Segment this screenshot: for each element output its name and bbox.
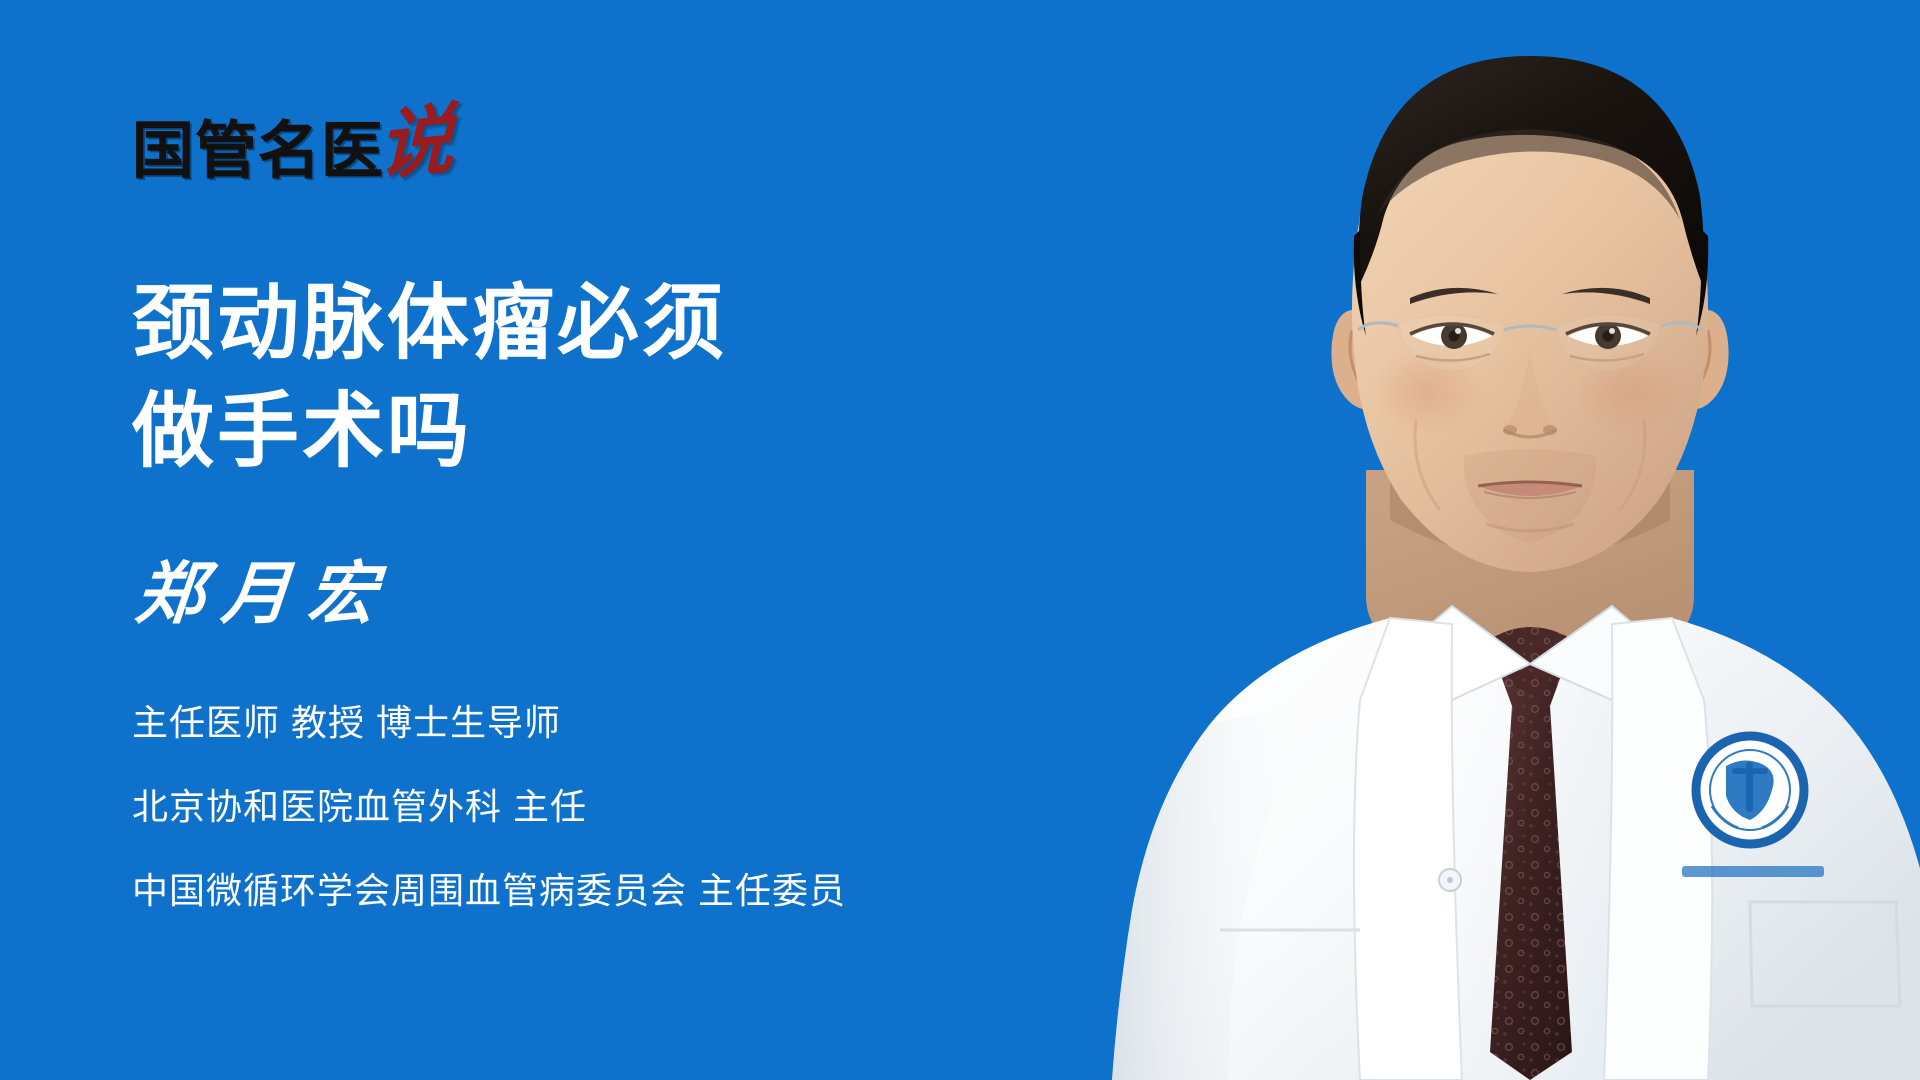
brand-logo-accent-text: 说 <box>378 104 454 182</box>
coat-badge <box>1694 734 1806 846</box>
credential-line-1: 主任医师 教授 博士生导师 <box>132 705 846 741</box>
promo-card: 国管名医 说 颈动脉体瘤必须 做手术吗 郑月宏 主任医师 教授 博士生导师 北京… <box>0 0 1920 1080</box>
page-title-line-1: 颈动脉体瘤必须 <box>132 270 727 378</box>
brand-logo: 国管名医 说 <box>132 96 454 182</box>
doctor-name: 郑月宏 <box>133 560 397 628</box>
credential-line-2: 北京协和医院血管外科 主任 <box>132 789 846 825</box>
coat-badge-text <box>1682 866 1824 877</box>
doctor-credentials: 主任医师 教授 博士生导师 北京协和医院血管外科 主任 中国微循环学会周围血管病… <box>132 705 846 909</box>
brand-logo-main-text: 国管名医 <box>132 120 384 182</box>
credential-line-3: 中国微循环学会周围血管病委员会 主任委员 <box>132 873 846 909</box>
page-title: 颈动脉体瘤必须 做手术吗 <box>132 270 727 486</box>
doctor-portrait <box>1060 0 1920 1080</box>
page-title-line-2: 做手术吗 <box>132 378 727 486</box>
content-column: 国管名医 说 颈动脉体瘤必须 做手术吗 郑月宏 主任医师 教授 博士生导师 北京… <box>132 0 1132 1080</box>
